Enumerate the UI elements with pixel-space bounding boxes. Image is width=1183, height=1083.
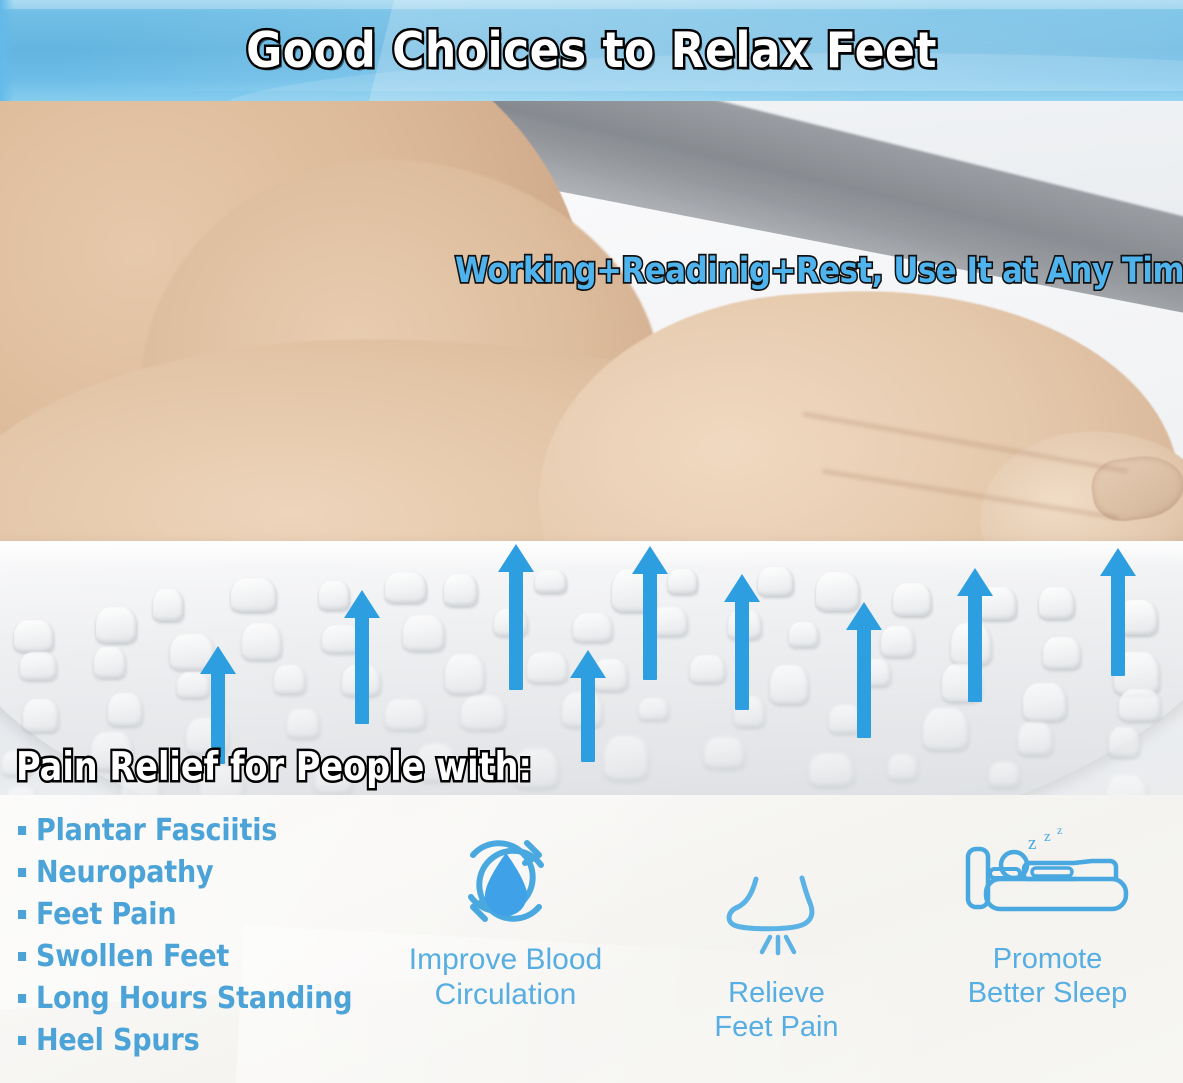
mat-nub: [951, 623, 993, 665]
mat-nub: [639, 698, 670, 720]
page-title: Good Choices to Relax Feet: [59, 0, 1124, 101]
mat-nub: [651, 607, 688, 636]
mat-nub: [1109, 727, 1140, 756]
condition-item: Long Hours Standing: [18, 977, 333, 1019]
mat-nub: [535, 570, 567, 594]
mat-nub: [758, 567, 794, 596]
mat-nub: [14, 620, 54, 652]
mat-nub: [20, 652, 57, 680]
mat-nub: [461, 695, 507, 730]
benefit-relieve-feet-pain: Relieve Feet Pain: [641, 859, 912, 1044]
benefit-label-line2: Circulation: [409, 978, 602, 1013]
mat-nub: [881, 626, 915, 657]
mat-nub: [1018, 722, 1053, 755]
bullet-dot-icon: [18, 910, 26, 919]
condition-label: Feet Pain: [36, 897, 176, 932]
mat-nub: [734, 696, 765, 727]
benefit-label: Improve Blood Circulation: [409, 943, 602, 1013]
condition-label: Plantar Fasciitis: [36, 813, 277, 848]
mat-nub: [385, 572, 427, 603]
condition-item: Swollen Feet: [18, 935, 333, 977]
benefit-label-line1: Promote: [968, 943, 1128, 977]
person-sleeping-bed-icon: z z z: [960, 825, 1136, 937]
mat-nub: [604, 736, 649, 780]
mat-nub: [494, 609, 528, 637]
mat-nub: [170, 634, 215, 670]
mat-nub: [893, 583, 932, 616]
mat-nub: [816, 572, 860, 611]
benefit-label-line1: Improve Blood: [409, 943, 602, 978]
mat-nub: [809, 753, 854, 786]
mat-nub: [1043, 637, 1081, 669]
mat-nub: [96, 607, 137, 643]
bullet-dot-icon: [18, 826, 26, 835]
condition-item: Neuropathy: [18, 851, 333, 893]
bullet-dot-icon: [18, 1036, 26, 1045]
mat-nub: [612, 569, 656, 611]
hero-photo: Working+Readinig+Rest, Use It at Any Tim…: [0, 101, 1183, 795]
benefits-row: Improve Blood Circulation Relieve Feet P…: [370, 825, 1183, 1075]
water-drop-circulation-icon: [443, 825, 569, 937]
bullet-dot-icon: [18, 952, 26, 961]
header-banner: Good Choices to Relax Feet: [0, 0, 1183, 101]
condition-label: Heel Spurs: [36, 1023, 199, 1058]
bullet-dot-icon: [18, 994, 26, 1003]
benefit-improve-blood-circulation: Improve Blood Circulation: [370, 825, 641, 1013]
benefit-label: Relieve Feet Pain: [714, 977, 838, 1044]
hero-subtitle: Working+Readinig+Rest, Use It at Any Tim…: [455, 251, 1183, 291]
condition-item: Feet Pain: [18, 893, 333, 935]
mat-nub: [1119, 689, 1161, 721]
mat-nub: [177, 672, 210, 698]
mat-nub: [770, 665, 809, 704]
condition-item: Heel Spurs: [18, 1019, 333, 1061]
mat-nub: [1106, 775, 1149, 795]
condition-item: Plantar Fasciitis: [18, 809, 333, 851]
mat-nub: [829, 705, 862, 732]
product-infographic: Good Choices to Relax Feet Working+Readi…: [0, 0, 1183, 1083]
mat-nub: [23, 699, 59, 731]
mat-nub: [789, 622, 819, 647]
mat-nub: [573, 613, 613, 642]
condition-label: Swollen Feet: [36, 939, 229, 974]
benefit-promote-better-sleep: z z z Promote Better Sleep: [912, 825, 1183, 1010]
mat-nub: [445, 654, 485, 694]
benefit-label-line1: Relieve: [714, 977, 838, 1011]
banner-left-edge: [0, 0, 14, 101]
mat-nub: [977, 587, 1017, 620]
mat-nub: [888, 754, 919, 780]
conditions-list: Plantar FasciitisNeuropathyFeet PainSwol…: [18, 809, 368, 1061]
mat-nub: [860, 659, 891, 687]
mat-nub: [923, 708, 969, 751]
mat-nub: [319, 581, 350, 610]
mat-nub: [1023, 683, 1067, 721]
mat-nub: [274, 665, 306, 695]
mat-nub: [668, 569, 699, 594]
mat-nub: [593, 659, 628, 691]
mat-nub: [527, 652, 568, 683]
mat-nub: [690, 655, 726, 684]
mat-nub: [342, 665, 381, 696]
mat-nub: [444, 574, 477, 607]
benefit-label-line2: Better Sleep: [968, 977, 1128, 1011]
svg-text:z: z: [1057, 825, 1062, 837]
mat-nub: [1039, 587, 1075, 619]
benefit-label-line2: Feet Pain: [714, 1011, 838, 1045]
mat-nub: [989, 762, 1020, 787]
mat-nub: [108, 693, 143, 726]
mat-nub: [385, 699, 426, 730]
mat-nub: [242, 623, 282, 660]
svg-text:z: z: [1028, 833, 1036, 854]
mat-nub: [562, 692, 603, 727]
mat-nub: [287, 709, 320, 738]
mat-top-highlight: [0, 541, 1183, 567]
condition-label: Neuropathy: [36, 855, 213, 890]
mat-nub: [1118, 600, 1157, 635]
mat-nub: [322, 625, 362, 654]
mat-nub: [704, 737, 745, 768]
mat-nub: [94, 647, 126, 678]
bullet-dot-icon: [18, 868, 26, 877]
svg-text:z: z: [1044, 829, 1051, 845]
condition-label: Long Hours Standing: [36, 981, 352, 1016]
mat-nub: [231, 578, 277, 612]
pain-relief-heading: Pain Relief for People with:: [16, 745, 532, 790]
mat-nub: [942, 664, 982, 702]
benefit-label: Promote Better Sleep: [968, 943, 1128, 1010]
mat-nub: [153, 589, 184, 621]
mat-nub: [403, 615, 445, 651]
benefits-panel: Plantar FasciitisNeuropathyFeet PainSwol…: [0, 795, 1183, 1083]
foot-relief-icon: [718, 859, 836, 971]
mat-nub: [728, 610, 762, 639]
